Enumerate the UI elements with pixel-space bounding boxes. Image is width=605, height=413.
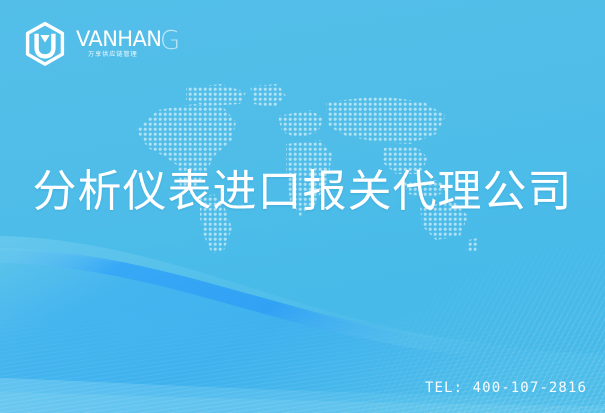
promo-banner: VANHAN G 万享供应链管理 分析仪表进口报关代理公司 TEL: 400-1… bbox=[0, 0, 605, 413]
contact-phone[interactable]: TEL: 400-107-2816 bbox=[425, 380, 587, 396]
wordmark-main: VANHAN bbox=[76, 27, 161, 51]
vanhang-hexagon-mark-icon bbox=[22, 21, 68, 67]
brand-subtitle: 万享供应链管理 bbox=[88, 49, 138, 58]
page-title: 分析仪表进口报关代理公司 bbox=[0, 168, 605, 216]
brand-wordmark: VANHAN G 万享供应链管理 bbox=[76, 24, 186, 64]
wordmark-accent: G bbox=[160, 26, 180, 56]
brand-logo[interactable]: VANHAN G 万享供应链管理 bbox=[22, 21, 186, 67]
